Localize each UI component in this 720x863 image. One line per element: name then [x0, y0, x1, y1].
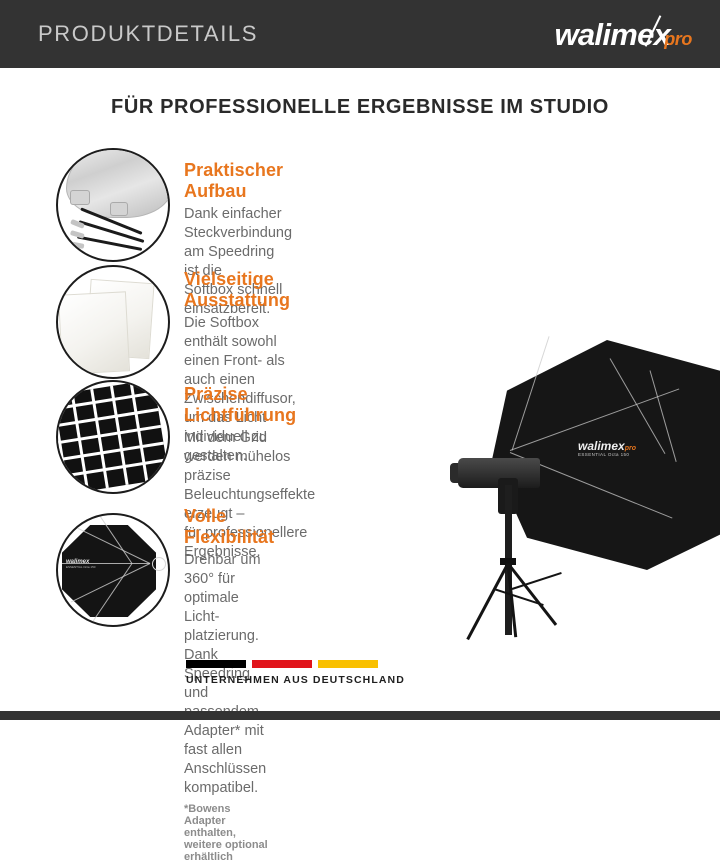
- speedring-lug: [110, 202, 128, 216]
- softbox-seam: [510, 388, 679, 451]
- tripod-leg: [507, 563, 557, 626]
- grid-line: [56, 442, 164, 463]
- softbox-logo-model: ESSENTIAL Octa 150: [578, 453, 636, 458]
- softbox-seam: [610, 358, 666, 454]
- diffuser-cloth-front: [58, 291, 130, 374]
- tripod-leg: [466, 563, 509, 640]
- softbox-brand-mark: walimexpro ESSENTIAL Octa 150: [578, 440, 636, 457]
- softbox-seam: [512, 336, 550, 450]
- softbox-logo-wordmark: walimex: [578, 439, 625, 453]
- studio-flash-head: [458, 458, 540, 488]
- octabox-brand-mark: walimex ESSENTIAL Octa 150: [66, 559, 95, 569]
- octabox-logo-model: ESSENTIAL Octa 150: [66, 565, 95, 569]
- rod-tip: [70, 241, 85, 249]
- flag-bar-black: [186, 660, 246, 668]
- softbox-body: [492, 340, 720, 570]
- flag-bar-red: [252, 660, 312, 668]
- flash-cap: [450, 463, 462, 483]
- feature-title: Volle Flexibilität: [184, 506, 274, 548]
- german-flag-icon: [186, 660, 405, 668]
- softbox-logo-pro: pro: [625, 445, 636, 452]
- softbox-seam: [650, 370, 677, 462]
- stand-joint: [500, 558, 516, 565]
- feature-footnote: *Bowens Adapter enthalten, weitere optio…: [184, 803, 274, 863]
- grid-line: [56, 395, 69, 494]
- page-header: PRODUKTDETAILS walimex pro: [0, 0, 720, 68]
- grid-line: [56, 458, 166, 479]
- grid-line: [56, 425, 161, 446]
- tripod-leg: [507, 563, 518, 637]
- logo-pro-suffix: pro: [664, 30, 692, 48]
- light-stand-column: [505, 485, 512, 635]
- feature-title: Präzise Lichtführung: [184, 384, 315, 426]
- grid-line: [56, 408, 158, 429]
- section-heading: FÜR PROFESSIONELLE ERGEBNISSE IM STUDIO: [0, 96, 720, 119]
- octabox-speedring: [152, 557, 166, 571]
- diffuser-cloth-icon: [56, 265, 170, 379]
- flag-bar-gold: [318, 660, 378, 668]
- product-hero-image: walimexpro ESSENTIAL Octa 150: [450, 330, 720, 720]
- honeycomb-grid-icon: [56, 380, 170, 494]
- footer-bar: [0, 711, 720, 720]
- feature-title: Vielseitige Ausstattung: [184, 269, 296, 311]
- speedring-lug: [70, 190, 90, 205]
- octabox-body: [62, 525, 156, 617]
- speedring-icon: [56, 148, 170, 262]
- tripod-brace: [512, 572, 562, 590]
- page-title: PRODUKTDETAILS: [38, 21, 258, 47]
- softbox-seam: [510, 452, 673, 518]
- walimex-pro-logo: walimex pro: [554, 19, 694, 50]
- grid-panel: [56, 380, 169, 494]
- germany-label: UNTERNEHMEN AUS DEUTSCHLAND: [186, 674, 405, 686]
- tilt-bracket: [498, 478, 518, 514]
- made-in-germany-badge: UNTERNEHMEN AUS DEUTSCHLAND: [186, 660, 405, 686]
- logo-wordmark: walimex: [554, 19, 670, 50]
- tripod-brace: [494, 588, 544, 606]
- feature-title: Praktischer Aufbau: [184, 160, 292, 202]
- octabox-icon: walimex ESSENTIAL Octa 150: [56, 513, 170, 627]
